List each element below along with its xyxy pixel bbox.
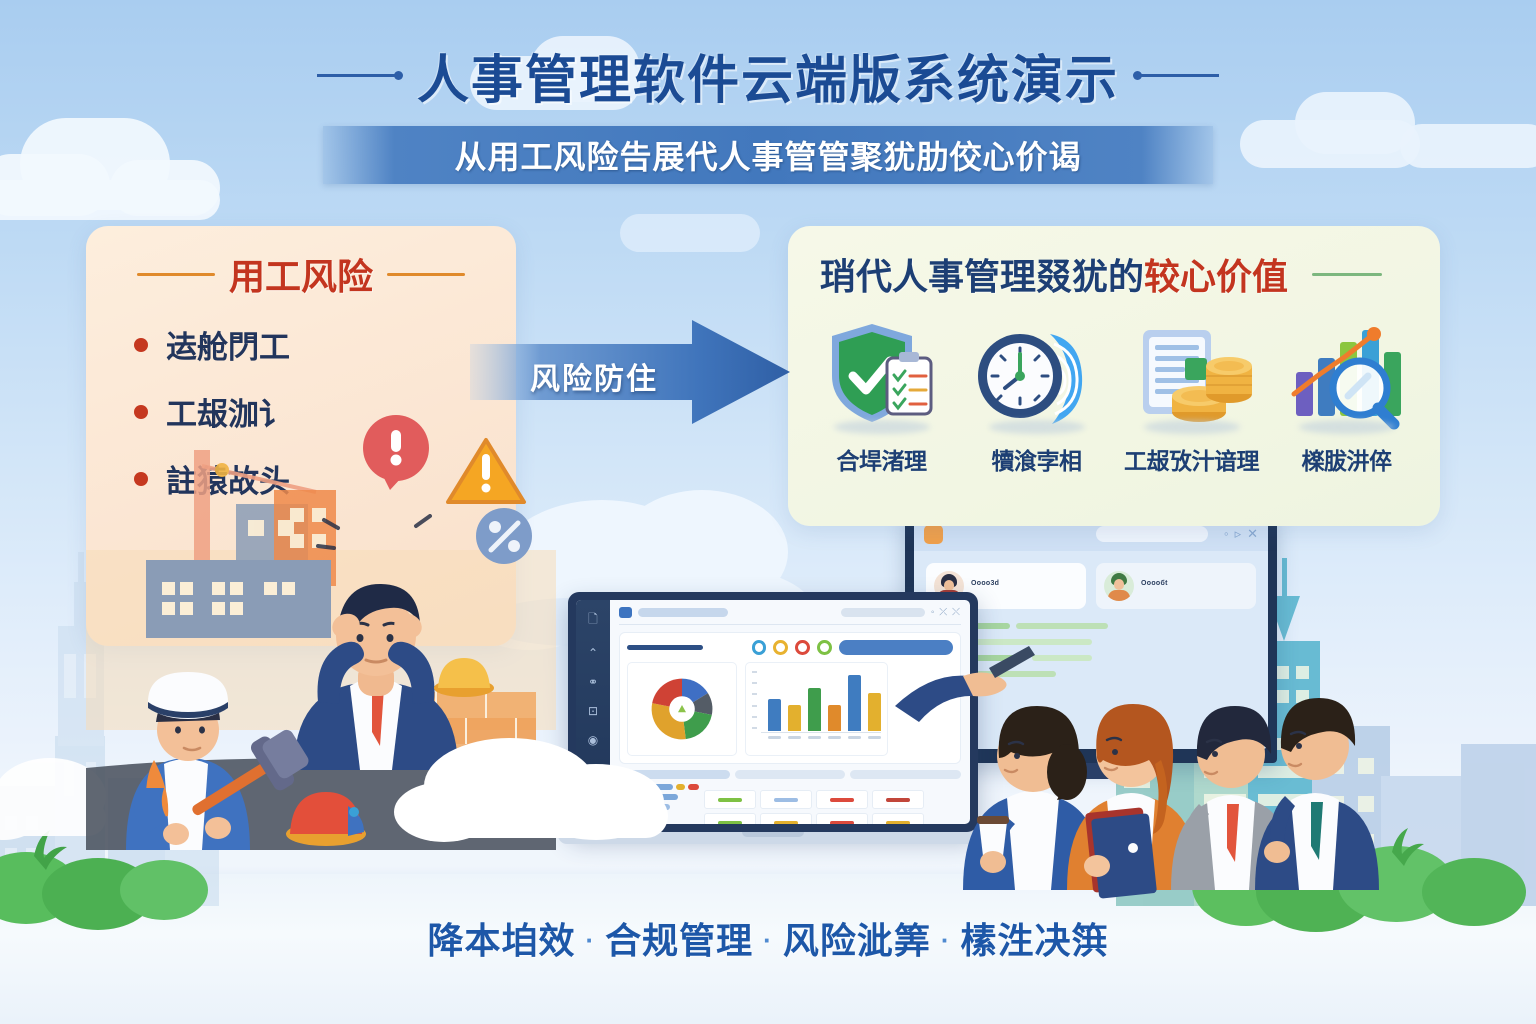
monitor-search-input[interactable] [1096,526,1208,542]
page-subtitle-band: 从用工风险告展代人事管管聚犹肋佼心价谒 [323,126,1213,184]
bar-chart-magnifier-icon [1272,318,1422,438]
value-panel-header: 琑代人事管理叕犹的较心价值 [788,226,1440,300]
status-badge[interactable] [817,640,832,655]
value-panel: 琑代人事管理叕犹的较心价值 [788,226,1440,526]
bar [828,705,841,731]
feature-icon-row: 合垾渚理 [788,300,1440,476]
value-panel-title-accent: 较心价值 [1144,256,1288,297]
primary-action-button[interactable] [839,640,953,655]
status-badge[interactable] [752,640,767,655]
table-row[interactable] [704,813,756,824]
breadcrumb [638,608,728,617]
warning-triangle-icon [448,440,524,502]
folder-icon [1085,807,1157,899]
table-row[interactable] [872,790,924,809]
table-row[interactable] [760,790,812,809]
page-subtitle: 从用工风险告展代人事管管聚犹肋佼心价谒 [454,132,1081,178]
dashboard-toolbar [627,640,953,655]
risk-panel-title: 用工风险 [229,248,373,300]
footer-separator: · [941,925,951,955]
filter-chip[interactable] [735,770,846,779]
bullet-dot-icon [134,338,148,352]
page-title: 人事管理软件云端版系统演示 [417,38,1119,113]
feature-label: 合垾渚理 [807,442,957,476]
footer: 降本垍效·合规管理·风险泚筭·榡泩决篊 [0,912,1536,964]
bar-chart-xaxis [761,736,881,739]
list-item-label: 迲舱閁工 [166,322,290,367]
table-row[interactable] [760,813,812,824]
table-row[interactable] [872,813,924,824]
risk-prevention-arrow: 风险防住 [470,320,790,424]
laptop-topbar: ◦ ⤫ ⤬ [619,607,961,618]
document-coins-icon [1117,318,1267,438]
list-item: 迲舱閁工 [134,322,516,367]
laptop-search-input[interactable] [841,608,925,617]
bar-chart-yaxis [752,669,757,731]
status-tile-grid [704,790,961,824]
alert-bubble-icon [363,415,429,490]
people-icon[interactable]: ⚭ [588,675,598,689]
list-item: 工叝泇讠 [134,389,516,434]
feature-label: 犢湌孛相 [962,442,1112,476]
feature-label: 檪胈汫倅 [1272,442,1422,476]
footer-tagline: 降本垍效·合规管理·风险泚筭·榡泩决篊 [427,920,1108,961]
footer-separator: · [763,925,773,955]
feature-label: 工叝攷汁谙理 [1117,442,1267,476]
risk-rule-right [387,273,465,276]
minimize-icon: ◦ [1224,526,1229,542]
panel-title-bar [627,645,703,650]
shield-check-clipboard-icon [807,318,957,438]
status-badge[interactable] [773,640,788,655]
bar [808,688,821,731]
close-icon: ✕ [1247,526,1258,542]
list-item-label: 工叝泇讠 [166,389,290,434]
bullet-dot-icon [134,405,148,419]
value-panel-title-main: 琑代人事管理叕犹的 [820,256,1144,297]
feature-compliance[interactable]: 合垾渚理 [807,318,957,476]
risk-rule-left [137,273,215,276]
infographic-canvas: 人事管理软件云端版系统演示 从用工风险告展代人事管管聚犹肋佼心价谒 用工风险 迲… [0,0,1536,1024]
database-icon[interactable]: ⊡ [588,704,598,718]
app-logo-icon [924,525,943,544]
maximize-icon: ▹ [1235,526,1242,542]
arrow-label: 风险防住 [530,354,658,398]
value-rule-right [1312,273,1382,276]
filter-chip[interactable] [850,770,961,779]
footer-item: 合规管理 [605,920,753,961]
footer-separator: · [585,925,595,955]
footer-item: 榡泩决篊 [961,920,1109,961]
table-row[interactable] [816,813,868,824]
clock-fingerprint-icon [962,318,1112,438]
title-rule-left [317,74,399,77]
bar [848,675,861,731]
monitor-window-controls[interactable]: ◦ ▹ ✕ [1224,526,1258,542]
footer-item: 风险泚筭 [783,920,931,961]
chart-up-icon[interactable]: ⌃ [588,646,598,660]
divider [619,624,961,625]
status-badge[interactable] [795,640,810,655]
bar-chart-bars [761,669,881,731]
table-row[interactable] [704,790,756,809]
feature-payroll[interactable]: 工叝攷汁谙理 [1117,318,1267,476]
footer-item: 降本垍效 [427,920,575,961]
table-row[interactable] [816,790,868,809]
bar-chart [745,662,888,756]
cloud-foreground-graphic [400,720,700,860]
bar [768,699,781,731]
feature-attendance[interactable]: 犢湌孛相 [962,318,1112,476]
app-logo-icon [619,607,632,618]
risk-panel-header: 用工风险 [86,226,516,300]
title-rule-right [1137,74,1219,77]
header: 人事管理软件云端版系统演示 [0,38,1536,113]
person-figure-4 [1255,698,1379,890]
percent-badge-icon [476,508,532,564]
bar [868,693,881,731]
feature-analytics[interactable]: 檪胈汫倅 [1272,318,1422,476]
value-panel-title: 琑代人事管理叕犹的较心价值 [820,248,1288,300]
bar [788,705,801,731]
document-icon[interactable]: 🗋 [588,610,598,631]
business-team-illustration [955,560,1375,890]
